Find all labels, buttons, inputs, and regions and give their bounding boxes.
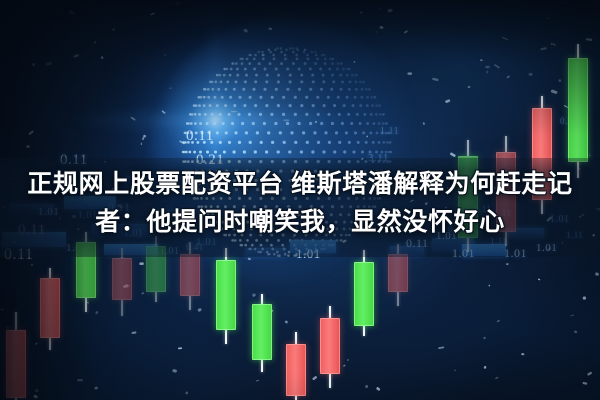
banner-image: 0.110.211.113.110.111.011.111.011.010.11… bbox=[0, 0, 600, 400]
headline-line-1: 正规网上股票配资平台 维斯塔潘解释为何赶走记 bbox=[27, 170, 572, 198]
page-title: 正规网上股票配资平台 维斯塔潘解释为何赶走记 者：他提问时嘲笑我，显然没怀好心 bbox=[0, 165, 600, 241]
headline-line-2: 者：他提问时嘲笑我，显然没怀好心 bbox=[14, 203, 586, 241]
